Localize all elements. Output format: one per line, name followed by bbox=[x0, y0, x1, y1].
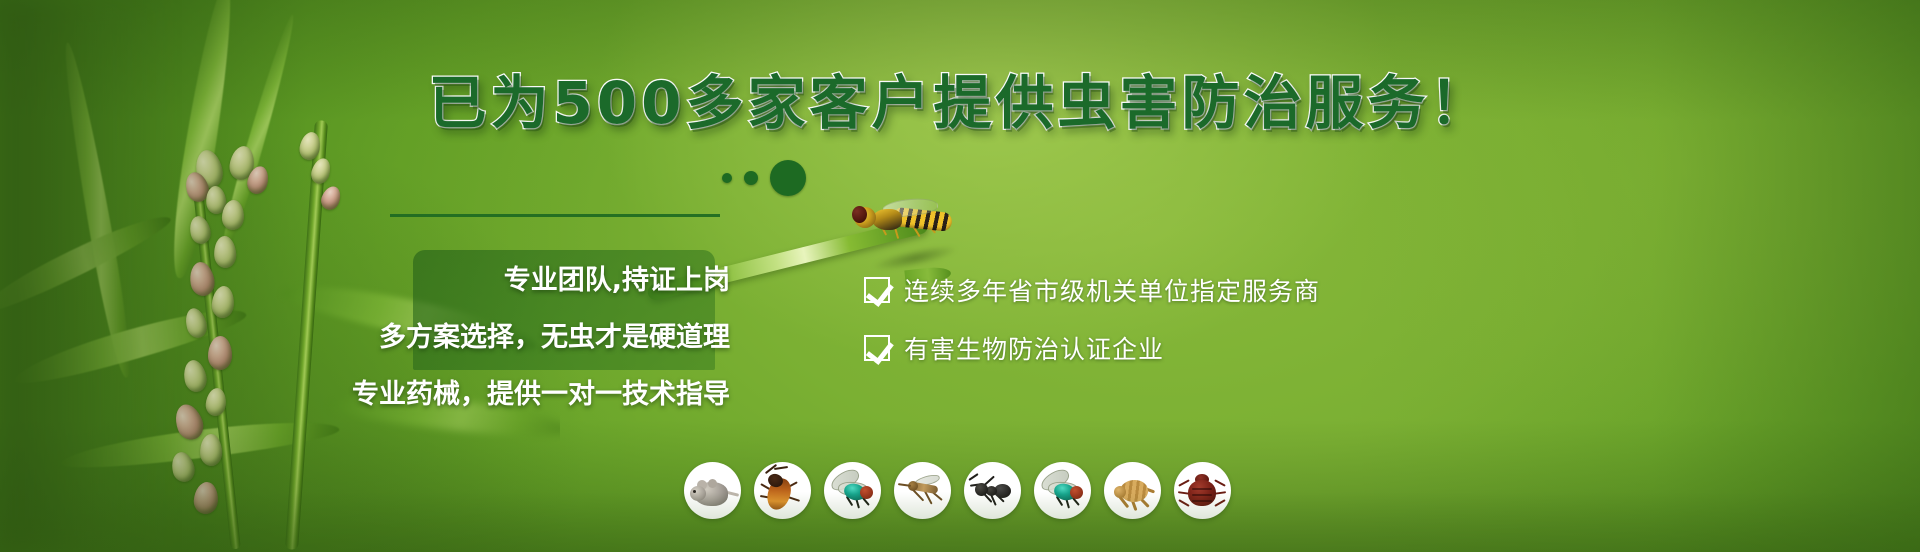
divider bbox=[390, 214, 720, 217]
credentials-checklist: 连续多年省市级机关单位指定服务商 有害生物防治认证企业 bbox=[864, 272, 1320, 366]
pest-icon-strip bbox=[684, 462, 1231, 519]
checklist-item-label: 连续多年省市级机关单位指定服务商 bbox=[904, 272, 1320, 308]
flea-icon[interactable] bbox=[1104, 462, 1161, 519]
medium-dot-icon bbox=[744, 171, 758, 185]
hoverfly-image bbox=[848, 198, 954, 252]
slogan-line-2: 多方案选择，无虫才是硬道理 bbox=[330, 315, 730, 354]
checklist-item: 有害生物防治认证企业 bbox=[864, 330, 1320, 366]
ant-icon[interactable] bbox=[964, 462, 1021, 519]
cockroach-icon[interactable] bbox=[754, 462, 811, 519]
decorative-dots bbox=[722, 160, 806, 196]
blowfly-icon[interactable] bbox=[1034, 462, 1091, 519]
checklist-item: 连续多年省市级机关单位指定服务商 bbox=[864, 272, 1320, 308]
rodent-icon[interactable] bbox=[684, 462, 741, 519]
page-title: 已为500多家客户提供虫害防治服务！ bbox=[0, 74, 1920, 132]
bedbug-icon[interactable] bbox=[1174, 462, 1231, 519]
checklist-item-label: 有害生物防治认证企业 bbox=[904, 330, 1164, 366]
small-dot-icon bbox=[722, 173, 732, 183]
slogan-line-3: 专业药械，提供一对一技术指导 bbox=[330, 372, 730, 411]
mosquito-icon[interactable] bbox=[894, 462, 951, 519]
slogan-list: 专业团队,持证上岗 多方案选择，无虫才是硬道理 专业药械，提供一对一技术指导 bbox=[330, 258, 730, 411]
pest-control-hero-banner: 已为500多家客户提供虫害防治服务！ 专业团队,持证上岗 多方案选择，无虫才是硬… bbox=[0, 0, 1920, 552]
fly-icon[interactable] bbox=[824, 462, 881, 519]
large-dot-icon bbox=[770, 160, 806, 196]
checkbox-check-icon bbox=[864, 277, 890, 303]
slogan-line-1: 专业团队,持证上岗 bbox=[330, 258, 730, 297]
checkbox-check-icon bbox=[864, 335, 890, 361]
